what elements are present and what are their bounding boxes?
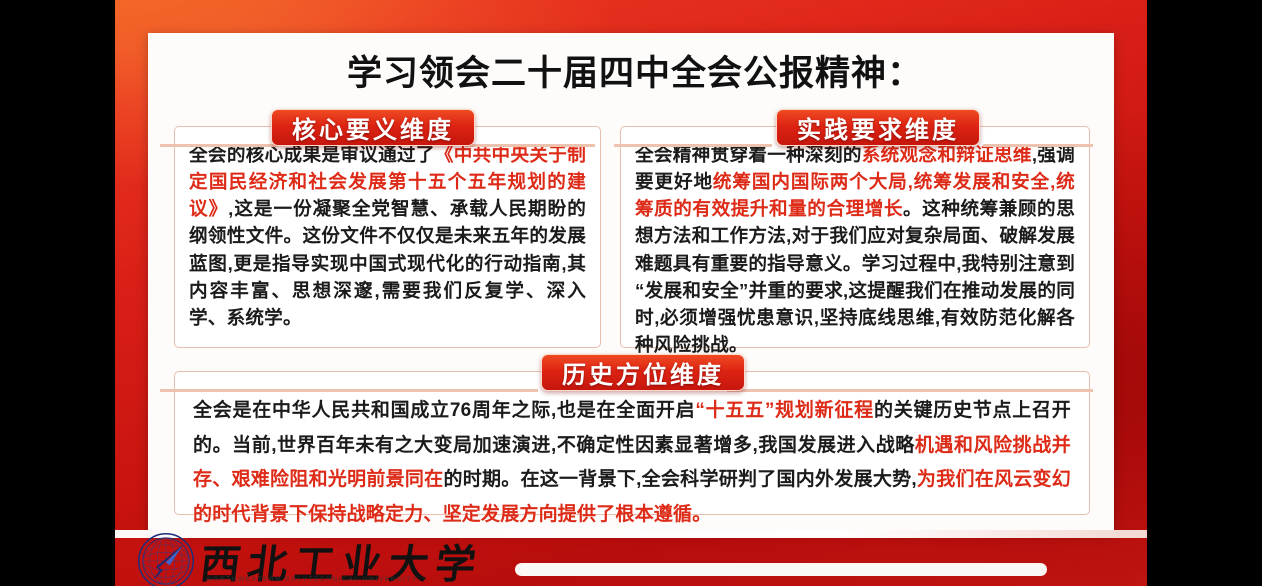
highlighted-text-run: 系统观念和辩证思维 — [862, 144, 1032, 165]
text-run: 全会是在中华人民共和国成立76周年之际,也是在全面开启 — [193, 400, 695, 421]
page-title: 学习领会二十届四中全会公报精神： — [148, 55, 1114, 94]
pill-dash-right-b — [983, 144, 1093, 147]
highlighted-text-run: “十五五”规划新征程 — [695, 400, 874, 421]
text-run: 全会精神贯穿着一种深刻的 — [635, 144, 862, 165]
footer-progress-bar — [515, 563, 1047, 576]
slide-content-card: 学习领会二十届四中全会公报精神： 全会的核心成果是审议通过了《中共中央关于制定国… — [148, 33, 1114, 533]
presentation-slide: 学习领会二十届四中全会公报精神： 全会的核心成果是审议通过了《中共中央关于制定国… — [115, 0, 1147, 586]
text-run: ,这是一份凝聚全党智慧、承载人民期盼的纲领性文件。这份文件不仅仅是未来五年的发展… — [189, 198, 586, 328]
pill-dash-right-a — [614, 144, 772, 147]
pill-dash-bottom-b — [727, 389, 1093, 392]
pill-dash-bottom-a — [160, 389, 538, 392]
text-run: 全会的核心成果是审议通过了 — [189, 144, 435, 165]
screen-root: 学习领会二十届四中全会公报精神： 全会的核心成果是审议通过了《中共中央关于制定国… — [0, 0, 1262, 586]
panel-practical-requirements: 全会精神贯穿着一种深刻的系统观念和辩证思维,强调要更好地统筹国内国际两个大局,统… — [620, 126, 1090, 348]
text-run: 的时期。在这一背景下,全会科学研判了国内外发展大势, — [443, 469, 916, 490]
panel-practical-requirements-body: 全会精神贯穿着一种深刻的系统观念和辩证思维,强调要更好地统筹国内国际两个大局,统… — [621, 127, 1089, 366]
pill-core-essence: 核心要义维度 — [271, 109, 475, 146]
university-subtitle: NORTHWESTERN POLYTECHNICAL UNIVERSITY — [207, 576, 418, 583]
panel-core-essence: 全会的核心成果是审议通过了《中共中央关于制定国民经济和社会发展第十五个五年规划的… — [174, 126, 601, 348]
pill-dash-left-a — [160, 144, 278, 147]
panel-core-essence-body: 全会的核心成果是审议通过了《中共中央关于制定国民经济和社会发展第十五个五年规划的… — [175, 127, 600, 339]
pill-dash-left-b — [465, 144, 595, 147]
pill-historical-position: 历史方位维度 — [541, 354, 745, 391]
text-run: 。这种统筹兼顾的思想方法和工作方法,对于我们应对复杂局面、破解发展难题具有重要的… — [635, 198, 1075, 355]
panel-historical-position-body: 全会是在中华人民共和国成立76周年之际,也是在全面开启“十五五”规划新征程的关键… — [175, 372, 1089, 542]
pill-practical-requirements: 实践要求维度 — [776, 109, 980, 146]
university-crest-icon — [137, 532, 195, 586]
panel-historical-position: 全会是在中华人民共和国成立76周年之际,也是在全面开启“十五五”规划新征程的关键… — [174, 371, 1090, 515]
slide-footer: 西北工业大学 NORTHWESTERN POLYTECHNICAL UNIVER… — [115, 530, 1147, 586]
